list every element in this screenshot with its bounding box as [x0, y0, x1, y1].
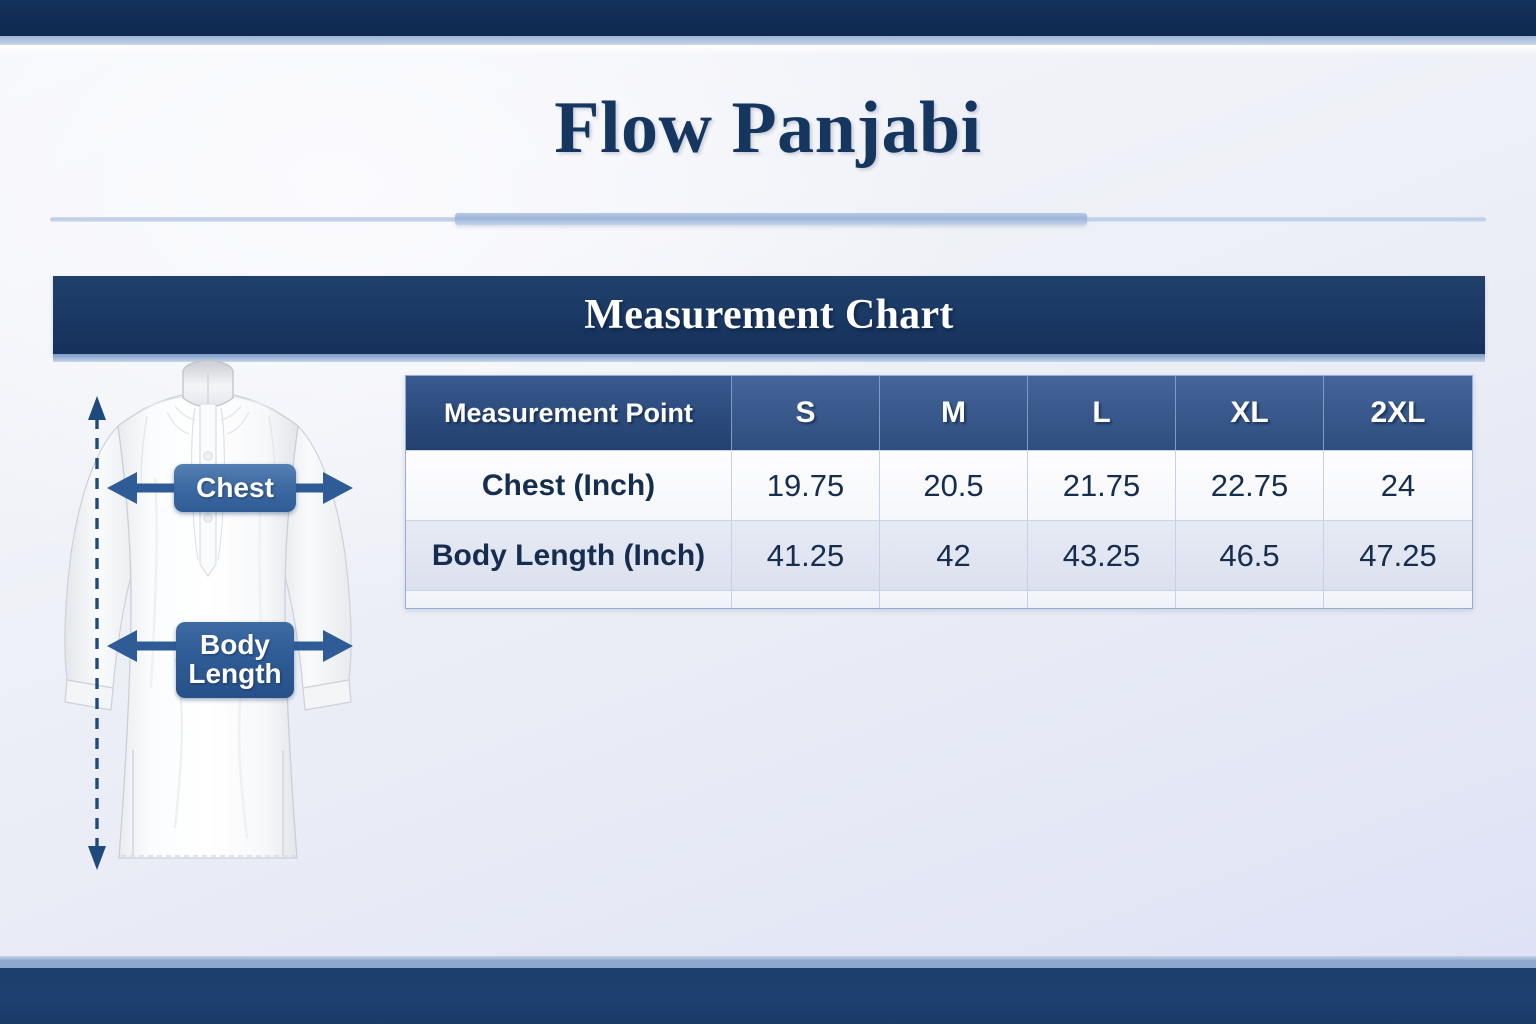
cell-chest-s: 19.75 [732, 450, 880, 520]
section-header-title: Measurement Chart [584, 291, 953, 339]
cell-chest-l: 21.75 [1028, 450, 1176, 520]
cell-chest-2xl: 24 [1324, 450, 1472, 520]
size-chart-page: Flow Panjabi Measurement Chart [0, 0, 1536, 1024]
body-length-measure-label: Body Length [176, 622, 294, 698]
measurement-table: Measurement Point S M L XL 2XL Chest (In… [405, 375, 1473, 609]
top-decorative-band [0, 0, 1536, 36]
arrow-head-down [88, 846, 106, 870]
page-title: Flow Panjabi [0, 86, 1536, 171]
col-header-m: M [880, 376, 1028, 450]
row-label-body-length: Body Length (Inch) [406, 520, 732, 590]
table-row: Body Length (Inch) 41.25 42 43.25 46.5 4… [406, 520, 1472, 590]
cell-body-length-xl: 46.5 [1176, 520, 1324, 590]
top-accent-strip [0, 36, 1536, 45]
cell-body-length-2xl: 47.25 [1324, 520, 1472, 590]
cell-body-length-m: 42 [880, 520, 1028, 590]
chest-label-text: Chest [196, 474, 274, 503]
filler-cell [1176, 590, 1324, 608]
filler-cell [1028, 590, 1176, 608]
divider-thick-line [455, 213, 1087, 225]
top-glow [0, 45, 1536, 55]
cell-body-length-l: 43.25 [1028, 520, 1176, 590]
col-header-s: S [732, 376, 880, 450]
row-label-chest: Chest (Inch) [406, 450, 732, 520]
col-header-xl: XL [1176, 376, 1324, 450]
cell-chest-m: 20.5 [880, 450, 1028, 520]
table-header-row: Measurement Point S M L XL 2XL [406, 376, 1472, 450]
cell-chest-xl: 22.75 [1176, 450, 1324, 520]
chest-measure-label: Chest [174, 464, 296, 512]
bottom-decorative-band [0, 968, 1536, 1024]
table-row: Chest (Inch) 19.75 20.5 21.75 22.75 24 [406, 450, 1472, 520]
arrow-head-up [88, 396, 106, 420]
body-length-label-line1: Body [188, 631, 281, 660]
section-header-bar: Measurement Chart [53, 276, 1485, 354]
chest-arrow-right-head [323, 472, 353, 504]
bottom-accent-strip [0, 956, 1536, 968]
filler-cell [732, 590, 880, 608]
body-length-label-line2: Length [188, 660, 281, 689]
col-header-l: L [1028, 376, 1176, 450]
cell-body-length-s: 41.25 [732, 520, 880, 590]
filler-cell [880, 590, 1028, 608]
col-header-measurement-point: Measurement Point [406, 376, 732, 450]
table-filler-row [406, 590, 1472, 608]
col-header-2xl: 2XL [1324, 376, 1472, 450]
filler-cell [1324, 590, 1472, 608]
table-body: Chest (Inch) 19.75 20.5 21.75 22.75 24 B… [406, 450, 1472, 608]
filler-cell [406, 590, 732, 608]
title-divider [0, 212, 1536, 226]
